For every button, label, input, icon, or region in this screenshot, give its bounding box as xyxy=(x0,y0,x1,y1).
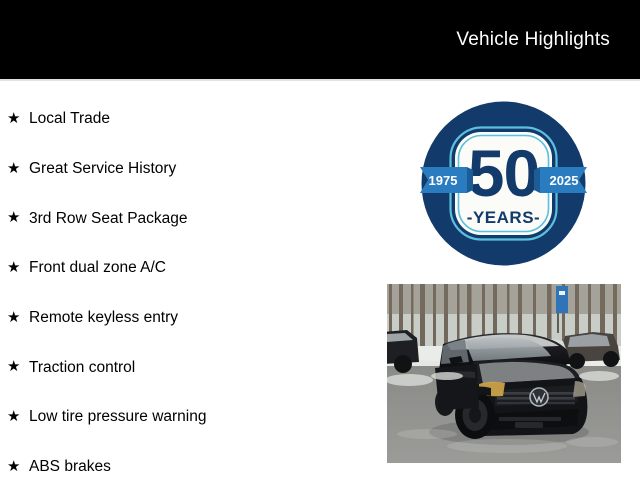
list-item: ★ 3rd Row Seat Package xyxy=(0,193,380,243)
photo-tree-canopy xyxy=(387,284,621,314)
star-icon: ★ xyxy=(7,409,20,424)
star-icon: ★ xyxy=(7,260,20,275)
list-item-label: Traction control xyxy=(29,358,135,377)
list-item-label: Local Trade xyxy=(29,109,110,128)
vehicle-photo[interactable] xyxy=(387,284,621,463)
badge-number: 50 xyxy=(468,136,539,210)
star-icon: ★ xyxy=(7,111,20,126)
list-item-label: 3rd Row Seat Package xyxy=(29,209,188,228)
badge-end-year: 2025 xyxy=(550,173,579,188)
star-icon: ★ xyxy=(7,210,20,225)
star-icon: ★ xyxy=(7,359,20,374)
list-item: ★ Low tire pressure warning xyxy=(0,392,380,442)
header-divider xyxy=(0,79,640,81)
list-item: ★ ABS brakes xyxy=(0,442,380,492)
star-icon: ★ xyxy=(7,310,20,325)
badge-start-year: 1975 xyxy=(429,173,458,188)
list-item: ★ Local Trade xyxy=(0,94,380,144)
list-item-label: Low tire pressure warning xyxy=(29,407,206,426)
anniversary-badge: 50 -YEARS- 1975 2025 xyxy=(421,101,586,266)
page-title: Vehicle Highlights xyxy=(456,29,610,51)
list-item: ★ Front dual zone A/C xyxy=(0,243,380,293)
photo-main-vehicle xyxy=(429,333,589,445)
badge-years-text: -YEARS- xyxy=(467,208,540,227)
header-bar: Vehicle Highlights xyxy=(0,0,640,79)
list-item: ★ Remote keyless entry xyxy=(0,293,380,343)
list-item-label: ABS brakes xyxy=(29,457,111,476)
list-item-label: Remote keyless entry xyxy=(29,308,178,327)
list-item: ★ Traction control xyxy=(0,342,380,392)
star-icon: ★ xyxy=(7,459,20,474)
badge-ribbon-left: 1975 xyxy=(420,167,473,193)
list-item-label: Great Service History xyxy=(29,159,176,178)
list-item-label: Front dual zone A/C xyxy=(29,258,166,277)
star-icon: ★ xyxy=(7,161,20,176)
vehicle-highlights-list: ★ Local Trade ★ Great Service History ★ … xyxy=(0,94,380,492)
list-item: ★ Great Service History xyxy=(0,144,380,194)
